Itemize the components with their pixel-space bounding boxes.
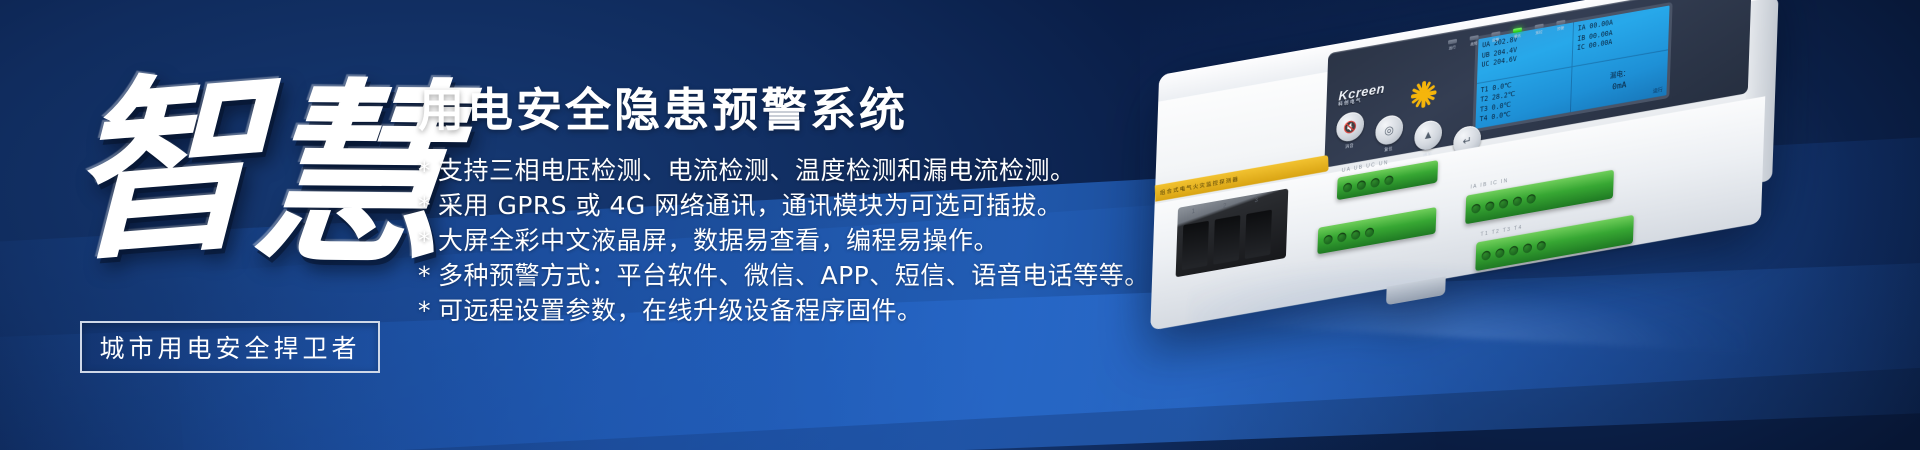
lcd-current-cell: IA 00.00A IB 00.00A IC 00.00A <box>1572 5 1669 67</box>
led-indicator: 报警 <box>1489 31 1502 44</box>
led-prewarn-icon <box>1556 20 1565 26</box>
bullet-text: 可远程设置参数，在线升级设备程序固件。 <box>438 296 923 325</box>
led-indicator: 遥控 <box>1532 23 1545 36</box>
lcd-leakage-label: 漏电： <box>1610 69 1630 82</box>
tagline-box: 城市用电安全捍卫者 <box>80 321 380 373</box>
led-indicator: 预警 <box>1554 19 1567 32</box>
led-comm-icon <box>1513 27 1522 33</box>
bullet-marker: * <box>418 258 438 293</box>
lcd-voltage-a: UA 202.8V <box>1482 26 1569 51</box>
reset-icon[interactable]: ◎ <box>1375 113 1404 146</box>
led-alarm-icon <box>1491 31 1500 37</box>
green-terminal-block <box>1475 215 1634 271</box>
connector-slot <box>1213 215 1240 264</box>
brand-logo: Kcreen 科创电气 <box>1338 80 1385 108</box>
led-fault-icon <box>1470 35 1479 41</box>
lcd-corner-mark: 运行 <box>1653 87 1663 96</box>
lcd-temp-4: T4 0.0℃ <box>1479 100 1566 125</box>
bullet-text: 大屏全彩中文液晶屏，数据易查看，编程易操作。 <box>438 226 999 255</box>
terminal-pin <box>1324 234 1333 245</box>
confirm-button[interactable]: ↵ 确定 <box>1450 123 1485 166</box>
lcd-voltage-c: UC 204.6V <box>1481 46 1568 71</box>
bullet-marker: * <box>418 188 438 223</box>
list-item: *支持三相电压检测、电流检测、温度检测和漏电流检测。 <box>418 153 1118 188</box>
terminal-pin <box>1357 179 1366 190</box>
lcd-current-a: IA 00.00A <box>1578 9 1666 34</box>
lcd-temp-2: T2 28.2℃ <box>1480 81 1567 106</box>
connector-number: 1 <box>1191 209 1195 216</box>
terminal-pin <box>1343 182 1352 193</box>
sunburst-icon <box>1410 79 1437 110</box>
mute-button-label: 消音 <box>1333 140 1367 152</box>
reset-button[interactable]: ◎ 复位 <box>1372 113 1407 156</box>
device-reflection <box>1189 253 1752 352</box>
background-glow-right <box>1140 0 1920 450</box>
bullet-text: 多种预警方式：平台软件、微信、APP、短信、语音电话等等。 <box>438 261 1150 290</box>
terminal-pin <box>1371 177 1380 188</box>
device-side-tab <box>1743 0 1779 185</box>
device-chassis <box>1150 0 1770 331</box>
led-remote-icon <box>1535 24 1544 30</box>
bullet-marker: * <box>418 153 438 188</box>
copy-column: 用电安全隐患预警系统 *支持三相电压检测、电流检测、温度检测和漏电流检测。 *采… <box>418 84 1118 328</box>
tagline-text: 城市用电安全捍卫者 <box>99 329 360 365</box>
brand-subtitle: 科创电气 <box>1338 93 1385 107</box>
list-item: *可远程设置参数，在线升级设备程序固件。 <box>418 293 1118 328</box>
calligraphy-title: 智慧 <box>61 18 424 317</box>
led-run-icon <box>1448 39 1457 45</box>
list-item: *多种预警方式：平台软件、微信、APP、短信、语音电话等等。 <box>418 258 1118 293</box>
terminal-pin <box>1365 227 1374 238</box>
terminal-pin <box>1537 240 1546 251</box>
lcd-voltage-cell: UA 202.8V UB 204.4V UC 204.6V <box>1477 22 1574 84</box>
increase-button-label: 增加 <box>1411 149 1445 161</box>
terminal-label: T1 T2 T3 T4 <box>1480 224 1522 238</box>
bullet-text: 采用 GPRS 或 4G 网络通讯，通讯模块为可选可插拔。 <box>438 191 1062 220</box>
list-item: *大屏全彩中文液晶屏，数据易查看，编程易操作。 <box>418 223 1118 258</box>
green-terminal-block <box>1337 160 1438 200</box>
terminal-pin <box>1499 198 1508 209</box>
terminal-label: UA UB UC UN <box>1342 160 1389 174</box>
black-connector-block: 1 2 3 <box>1176 188 1289 277</box>
terminal-pin <box>1384 174 1393 185</box>
increase-button[interactable]: ▲ 增加 <box>1411 118 1446 161</box>
led-indicator: 故障 <box>1467 35 1480 48</box>
product-label-strip: 组合式电气火灾监控探测器 <box>1155 155 1329 202</box>
lcd-temperature-cell: T1 0.0℃ T2 28.2℃ T3 0.0℃ T4 0.0℃ <box>1475 67 1572 129</box>
confirm-button-label: 确定 <box>1450 154 1484 166</box>
enter-icon[interactable]: ↵ <box>1453 124 1482 157</box>
green-terminal-block <box>1465 170 1614 225</box>
lcd-leakage-cell: 漏电： 0mA <box>1571 50 1668 112</box>
terminal-pin <box>1495 247 1504 258</box>
terminal-label: IA IB IC IN <box>1470 178 1508 191</box>
reset-button-label: 复位 <box>1372 143 1406 155</box>
lcd-current-b: IB 00.00A <box>1577 19 1665 44</box>
calligraphy-char-1: 智 <box>66 14 257 324</box>
mute-button[interactable]: 🔇 消音 <box>1333 109 1368 152</box>
product-device-image: UA 202.8V UB 204.4V UC 204.6V IA 00.00A … <box>1110 10 1920 340</box>
lcd-screen: UA 202.8V UB 204.4V UC 204.6V IA 00.00A … <box>1472 2 1672 133</box>
terminal-pin <box>1482 250 1491 261</box>
mute-icon[interactable]: 🔇 <box>1336 110 1365 143</box>
banner-root: 智慧 城市用电安全捍卫者 用电安全隐患预警系统 *支持三相电压检测、电流检测、温… <box>0 0 1920 450</box>
led-indicator: 通讯 <box>1511 27 1524 40</box>
terminal-pin <box>1471 203 1480 214</box>
terminal-pin <box>1337 231 1346 242</box>
up-arrow-icon[interactable]: ▲ <box>1414 119 1443 152</box>
bullet-marker: * <box>418 293 438 328</box>
connector-number: 3 <box>1254 198 1258 205</box>
terminal-pin <box>1485 200 1494 211</box>
terminal-pin <box>1513 195 1522 206</box>
din-rail-clip <box>1386 276 1446 305</box>
device-lower-section: 1 2 3 UA UB UC UN IA IB IC I <box>1150 96 1765 330</box>
connector-slot <box>1182 221 1209 270</box>
terminal-pin <box>1527 193 1536 204</box>
brand-name: Kcreen <box>1338 80 1385 104</box>
feature-list: *支持三相电压检测、电流检测、温度检测和漏电流检测。 *采用 GPRS 或 4G… <box>418 153 1118 328</box>
lcd-temp-3: T3 0.0℃ <box>1480 90 1567 115</box>
bullet-text: 支持三相电压检测、电流检测、温度检测和漏电流检测。 <box>438 156 1076 185</box>
connector-slot <box>1245 210 1272 259</box>
lcd-voltage-b: UB 204.4V <box>1482 36 1569 61</box>
bullet-marker: * <box>418 223 438 258</box>
led-indicator-row: 运行 故障 报警 通讯 遥控 预警 <box>1446 19 1568 52</box>
terminal-pin <box>1523 242 1532 253</box>
lcd-temp-1: T1 0.0℃ <box>1480 71 1567 96</box>
lcd-leakage-value: 0mA <box>1612 79 1627 93</box>
device-top-band <box>1158 0 1770 102</box>
device-faceplate: UA 202.8V UB 204.4V UC 204.6V IA 00.00A … <box>1324 0 1751 168</box>
device-button-group: 🔇 消音 ◎ 复位 ▲ 增加 ↵ 确定 <box>1331 89 1485 187</box>
connector-number: 2 <box>1223 203 1227 210</box>
led-indicator: 运行 <box>1446 39 1459 52</box>
list-item: *采用 GPRS 或 4G 网络通讯，通讯模块为可选可插拔。 <box>418 188 1118 223</box>
terminal-pin <box>1351 229 1360 240</box>
green-terminal-block <box>1317 207 1436 254</box>
device-body: UA 202.8V UB 204.4V UC 204.6V IA 00.00A … <box>1150 0 1770 331</box>
terminal-pin <box>1509 245 1518 256</box>
page-title: 用电安全隐患预警系统 <box>418 84 1118 137</box>
lcd-current-c: IC 00.00A <box>1577 29 1665 54</box>
